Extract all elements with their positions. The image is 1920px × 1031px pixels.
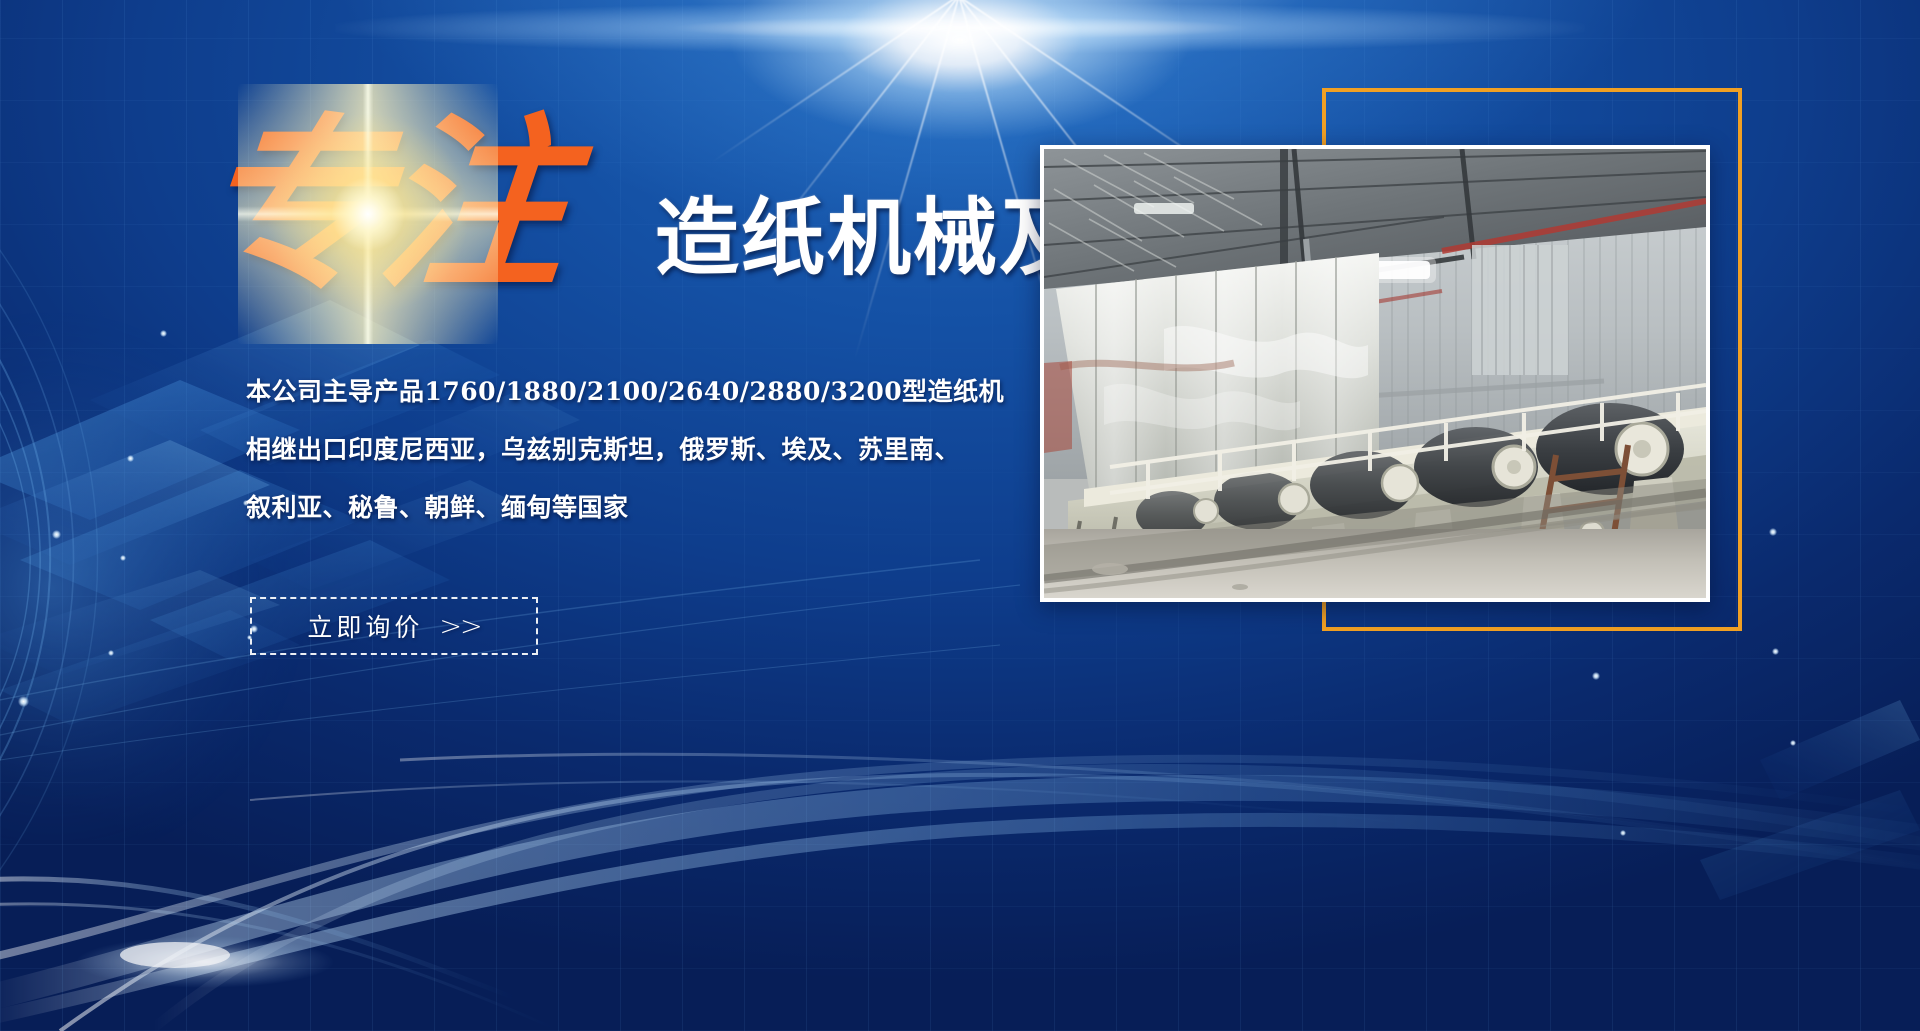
description-line-2: 相继出口印度尼西亚，乌兹别克斯坦，俄罗斯、埃及、苏里南、: [246, 421, 1026, 479]
product-photo: [1044, 149, 1706, 598]
headline-emphasis: 专注: [192, 112, 568, 298]
headline-group: 专注 造纸机械及配件: [200, 118, 1030, 338]
hero-banner: 专注 造纸机械及配件 本公司主导产品1760/1880/2100/2640/28…: [0, 0, 1920, 1031]
description-line-3: 叙利亚、秘鲁、朝鲜、缅甸等国家: [246, 479, 1026, 537]
description-block: 本公司主导产品1760/1880/2100/2640/2880/3200型造纸机…: [246, 363, 1026, 537]
inquiry-cta-button[interactable]: 立即询价 >>: [250, 597, 538, 655]
inquiry-cta-label: 立即询价: [307, 608, 423, 644]
description-line-1: 本公司主导产品1760/1880/2100/2640/2880/3200型造纸机: [246, 363, 1026, 421]
hero-content: 专注 造纸机械及配件 本公司主导产品1760/1880/2100/2640/28…: [0, 0, 1060, 1031]
chevron-double-right-icon: >>: [439, 611, 480, 642]
product-photo-frame[interactable]: [1040, 145, 1710, 602]
